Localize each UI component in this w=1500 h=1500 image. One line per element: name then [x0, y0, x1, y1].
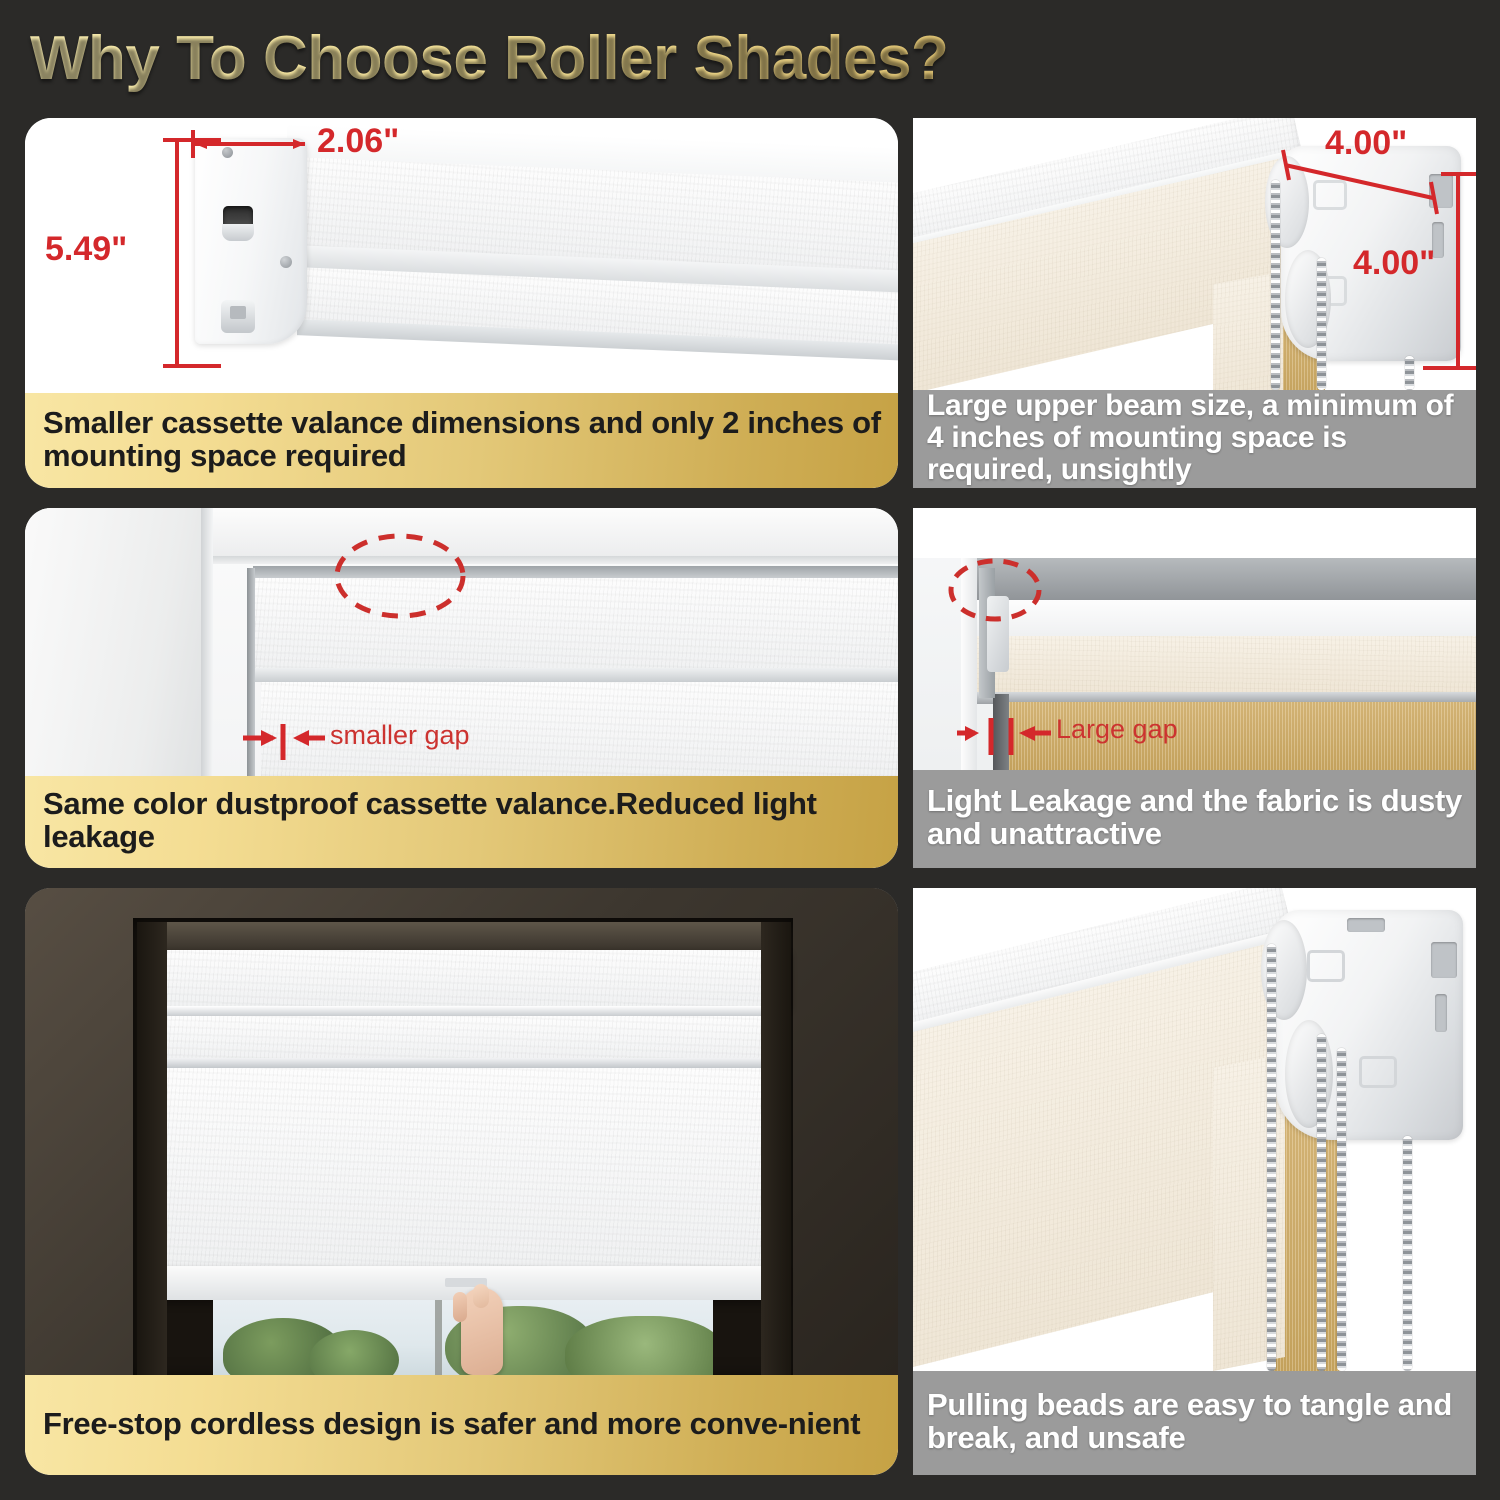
panel-row3-bad: Pulling beads are easy to tangle and bre…	[913, 888, 1476, 1475]
caption-row2-good: Same color dustproof cassette valance.Re…	[25, 776, 898, 868]
caption-row1-good: Smaller cassette valance dimensions and …	[25, 393, 898, 488]
shade-fabric	[153, 1068, 781, 1268]
caption-row3-bad: Pulling beads are easy to tangle and bre…	[913, 1371, 1476, 1475]
comparison-grid: 2.06" 5.49" Smaller cassette valance dim…	[0, 0, 1500, 1500]
caption-text: Light Leakage and the fabric is dusty an…	[927, 785, 1464, 851]
bead-chain	[1317, 1034, 1326, 1371]
dimension-label-width: 4.00"	[1325, 124, 1407, 163]
dimension-label-width: 2.06"	[317, 122, 399, 161]
caption-text: Large upper beam size, a minimum of 4 in…	[927, 390, 1466, 485]
bead-chain	[1267, 944, 1276, 1371]
product-photo-cordless-window	[25, 888, 898, 1375]
caption-text: Same color dustproof cassette valance.Re…	[43, 788, 882, 854]
product-photo-bead-chain	[913, 888, 1476, 1371]
panel-row2-bad: Large gap Light Leakage and the fabric i…	[913, 508, 1476, 868]
caption-row3-good: Free-stop cordless design is safer and m…	[25, 1375, 898, 1475]
panel-row2-good: smaller gap Same color dustproof cassett…	[25, 508, 898, 868]
bead-chain	[1403, 1136, 1412, 1371]
gap-label: Large gap	[1056, 714, 1178, 745]
dimension-label-height: 5.49"	[45, 230, 127, 269]
bead-chain	[1337, 1048, 1346, 1371]
caption-text: Smaller cassette valance dimensions and …	[43, 407, 882, 473]
panel-row1-good: 2.06" 5.49" Smaller cassette valance dim…	[25, 118, 898, 488]
gap-label: smaller gap	[330, 720, 470, 751]
valance-fabric	[143, 950, 791, 1008]
caption-text: Pulling beads are easy to tangle and bre…	[927, 1389, 1464, 1455]
dimension-label-height: 4.00"	[1353, 244, 1435, 283]
caption-text: Free-stop cordless design is safer and m…	[43, 1408, 860, 1441]
panel-row3-good: Free-stop cordless design is safer and m…	[25, 888, 898, 1475]
product-photo-cassette-dimensions: 2.06" 5.49"	[25, 118, 898, 393]
valance-fabric	[255, 578, 898, 674]
caption-row2-bad: Light Leakage and the fabric is dusty an…	[913, 770, 1476, 868]
panel-row1-bad: 4.00" 4.00" Large upper beam size, a min…	[913, 118, 1476, 488]
caption-row1-bad: Large upper beam size, a minimum of 4 in…	[913, 390, 1476, 488]
product-photo-large-beam: 4.00" 4.00"	[913, 118, 1476, 390]
product-photo-large-gap: Large gap	[913, 508, 1476, 770]
product-photo-smaller-gap: smaller gap	[25, 508, 898, 776]
bead-chain	[1405, 356, 1414, 390]
bead-chain	[1317, 258, 1326, 390]
bead-chain	[1271, 180, 1280, 390]
